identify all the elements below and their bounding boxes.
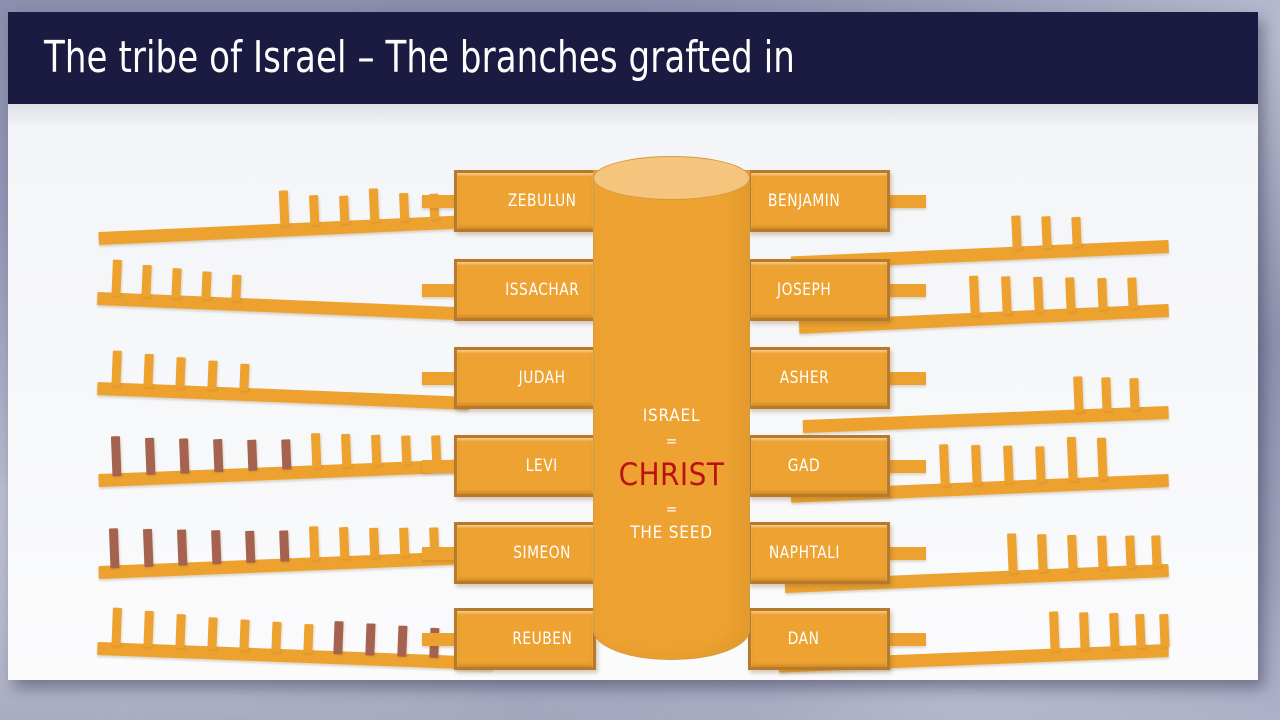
grafted-twig (213, 439, 223, 472)
branch-twig (971, 445, 982, 485)
grafted-twig (143, 529, 154, 567)
branch-twig (399, 193, 409, 221)
grafted-twig (279, 530, 289, 561)
branch-twig (207, 617, 217, 649)
tribe-connector-stub (886, 284, 926, 297)
branch-twig (279, 190, 290, 226)
left-branch (97, 252, 459, 327)
branch-twig (1007, 533, 1018, 573)
branch-twig (399, 528, 409, 557)
tribe-label-text: LEVI (526, 456, 558, 476)
branch-twig (1037, 534, 1048, 572)
tribe-label-text: NAPHTALI (768, 543, 839, 563)
grafted-twig (365, 623, 375, 655)
branch-twig (1159, 614, 1169, 647)
branch-twig (1011, 215, 1021, 249)
presentation-slide: The tribe of Israel – The branches graft… (8, 12, 1258, 680)
equals-sign: = (593, 429, 750, 453)
grafted-twig (145, 438, 155, 475)
branch-twig (171, 268, 181, 298)
grafted-twig (111, 436, 122, 476)
branch-twig (309, 195, 319, 225)
tribe-connector-stub (422, 460, 458, 473)
christ-text: CHRIST (593, 453, 750, 497)
tribe-connector-stub (422, 284, 458, 297)
grafted-twig (333, 621, 343, 654)
tribe-connector-stub (886, 460, 926, 473)
branch-twig (1109, 613, 1119, 649)
tribe-connector-stub (422, 547, 458, 560)
tribe-connector-stub (422, 195, 458, 208)
branch-twig (1097, 438, 1108, 480)
branch-twig (341, 434, 351, 467)
branch-twig (231, 275, 241, 301)
tribe-connector-stub (886, 633, 926, 646)
grafted-twig (211, 530, 221, 564)
page-title: The tribe of Israel – The branches graft… (44, 28, 795, 88)
branch-twig (969, 276, 980, 316)
tribe-label-text: ZEBULUN (508, 191, 577, 211)
tribe-label-levi[interactable]: LEVI (454, 435, 596, 497)
tribe-label-asher[interactable]: ASHER (748, 347, 890, 409)
branch-bar (97, 382, 469, 410)
branch-twig (1125, 535, 1135, 568)
branch-twig (303, 624, 313, 653)
tribe-connector-stub (886, 372, 926, 385)
branch-twig (401, 435, 411, 464)
tribe-label-text: BENJAMIN (768, 191, 840, 211)
branch-twig (239, 364, 249, 391)
tribe-label-benjamin[interactable]: BENJAMIN (748, 170, 890, 232)
branch-twig (1151, 535, 1161, 567)
slide-viewport: The tribe of Israel – The branches graft… (0, 0, 1280, 720)
tribe-label-issachar[interactable]: ISSACHAR (454, 259, 596, 321)
equals-sign: = (593, 497, 750, 521)
tribe-label-reuben[interactable]: REUBEN (454, 608, 596, 670)
branch-twig (369, 188, 380, 222)
tribe-label-gad[interactable]: GAD (748, 435, 890, 497)
branch-twig (1135, 614, 1145, 648)
branch-twig (1071, 217, 1081, 247)
branch-twig (175, 614, 185, 648)
branch-twig (207, 360, 217, 389)
tribe-connector-stub (886, 195, 926, 208)
tribe-label-text: ASHER (779, 368, 828, 388)
branch-bar (803, 406, 1169, 433)
branch-twig (309, 526, 319, 560)
branch-twig (939, 444, 950, 486)
tribe-label-text: SIMEON (513, 543, 571, 563)
center-label-text: ISRAEL (593, 404, 750, 429)
branch-twig (1073, 376, 1083, 412)
branch-twig (371, 435, 381, 466)
branch-twig (369, 528, 379, 558)
branch-twig (111, 608, 121, 646)
branch-twig (271, 622, 281, 652)
branch-twig (1079, 612, 1090, 650)
branch-bar (97, 292, 457, 320)
grafted-twig (397, 626, 407, 657)
branch-twig (1033, 277, 1044, 313)
branch-twig (1067, 437, 1078, 481)
branch-twig (1001, 276, 1012, 314)
branch-twig (1067, 535, 1077, 571)
grafted-twig (247, 440, 257, 471)
tribe-label-text: JOSEPH (777, 280, 831, 300)
branch-twig (175, 357, 185, 388)
tribe-connector-stub (886, 547, 926, 560)
tribe-label-text: REUBEN (512, 629, 572, 649)
branch-twig (339, 527, 349, 559)
branch-twig (1101, 377, 1111, 411)
left-branch (97, 175, 471, 252)
branch-twig (111, 351, 121, 386)
branch-twig (1041, 216, 1051, 248)
grafted-twig (245, 531, 255, 563)
left-branch (97, 419, 479, 494)
branch-twig (111, 260, 121, 296)
branch-twig (1127, 277, 1137, 308)
tribe-label-judah[interactable]: JUDAH (454, 347, 596, 409)
diagram-canvas: ZEBULUNISSACHARJUDAHLEVISIMEONREUBEN BEN… (8, 104, 1258, 680)
cylinder-top-ellipse (593, 156, 750, 200)
branch-twig (143, 611, 153, 647)
branch-twig (1097, 278, 1107, 310)
slide-title-bar: The tribe of Israel – The branches graft… (8, 12, 1258, 104)
tribe-label-joseph[interactable]: JOSEPH (748, 259, 890, 321)
tribe-connector-stub (422, 372, 458, 385)
tribe-label-naphtali[interactable]: NAPHTALI (748, 522, 890, 584)
tribe-label-text: GAD (788, 456, 820, 476)
tribe-connector-stub (422, 633, 458, 646)
israel-cylinder: ISRAEL=CHRIST=THE SEED (593, 156, 750, 660)
branch-twig (1129, 378, 1139, 410)
grafted-twig (177, 529, 187, 565)
branch-twig (141, 265, 151, 297)
branch-twig (239, 619, 249, 650)
cylinder-text-group: ISRAEL=CHRIST=THE SEED (593, 404, 750, 546)
tribe-label-simeon[interactable]: SIMEON (454, 522, 596, 584)
tribe-label-text: JUDAH (519, 368, 566, 388)
branch-twig (143, 354, 153, 387)
branch-twig (1003, 446, 1014, 484)
branch-twig (1035, 446, 1045, 482)
branch-twig (311, 433, 321, 468)
center-label-text: THE SEED (593, 521, 750, 546)
tribe-label-text: ISSACHAR (505, 280, 579, 300)
grafted-twig (281, 439, 291, 469)
branch-twig (201, 271, 211, 299)
tribe-label-text: DAN (788, 629, 820, 649)
grafted-twig (179, 438, 189, 473)
branch-twig (1097, 536, 1107, 570)
branch-twig (1065, 277, 1076, 311)
left-branch (97, 342, 471, 417)
branch-twig (1049, 611, 1060, 651)
tribe-label-zebulun[interactable]: ZEBULUN (454, 170, 596, 232)
branch-twig (339, 196, 349, 224)
tribe-label-dan[interactable]: DAN (748, 608, 890, 670)
grafted-twig (109, 528, 120, 568)
